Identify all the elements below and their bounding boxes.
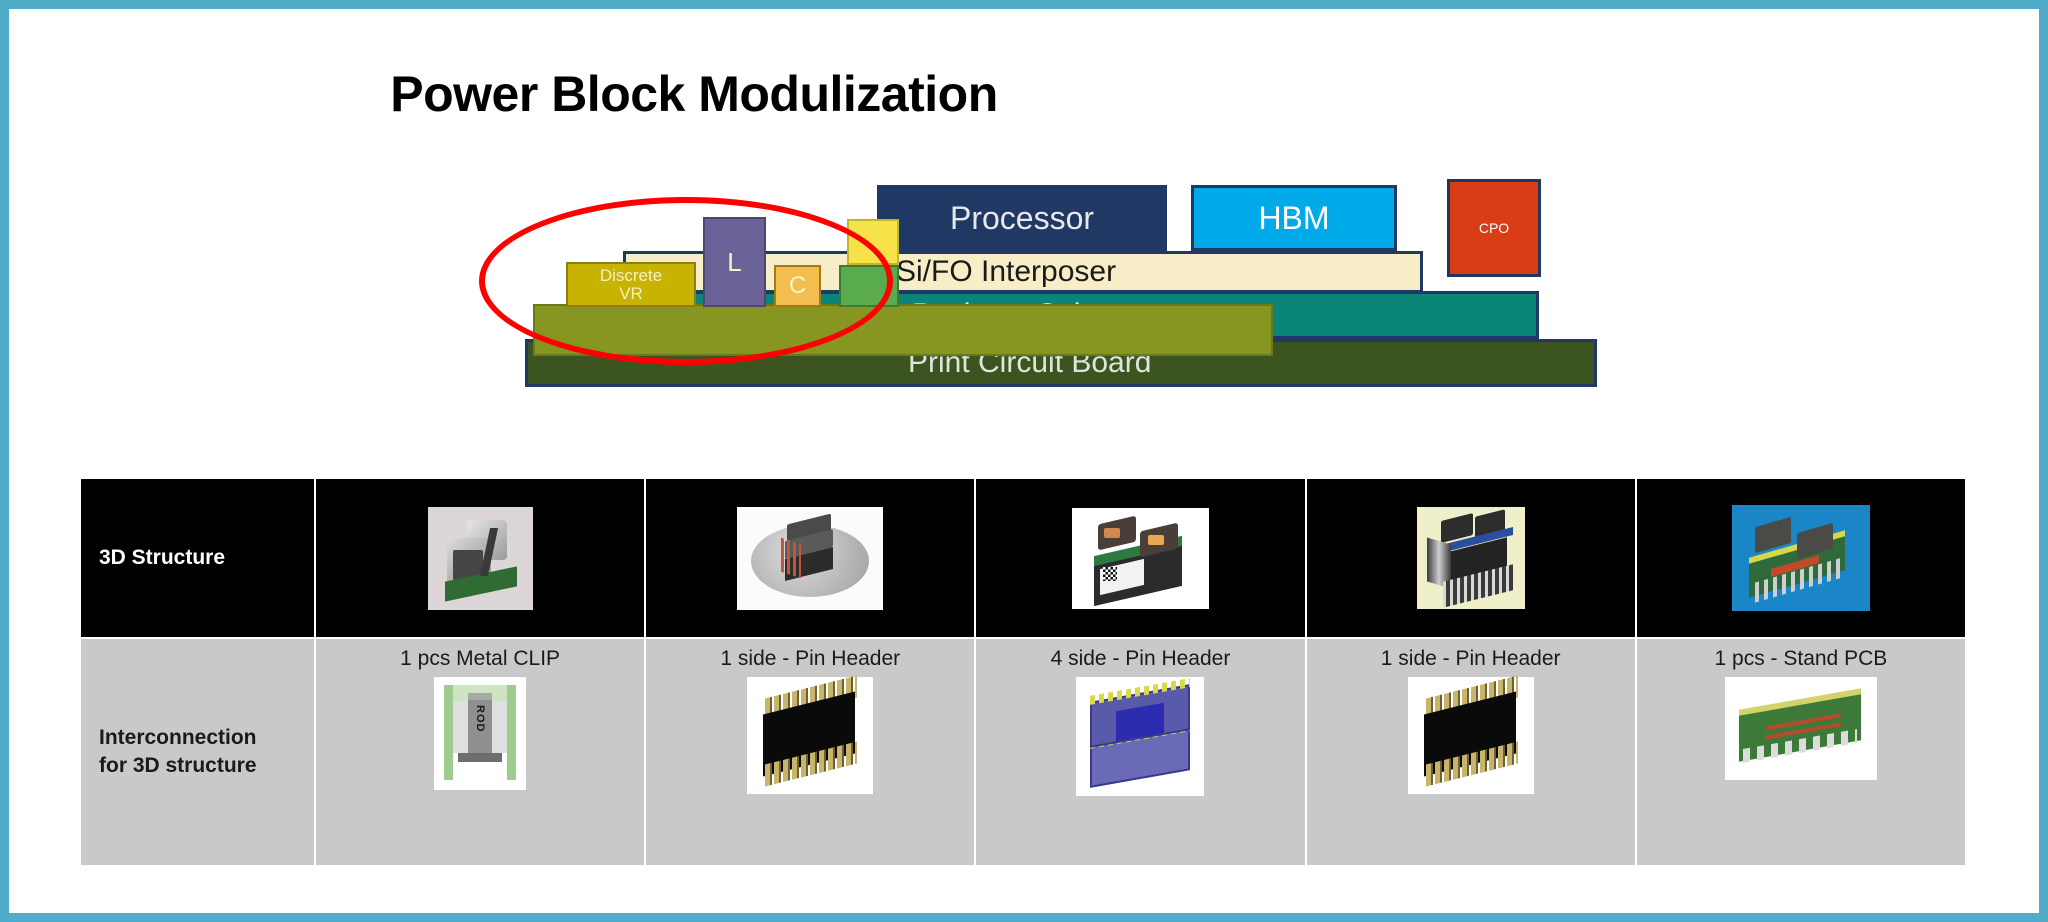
rod-label: ROD [468, 699, 492, 739]
table-row-interconnection: Interconnection for 3D structure 1 pcs M… [80, 638, 1966, 866]
row-label-interconnection-line1: Interconnection [99, 724, 314, 752]
metal-clip-module-photo [428, 507, 533, 610]
four-side-pin-header-photo [1076, 677, 1204, 796]
block-processor: Processor [877, 185, 1167, 251]
cell-3d-structure-5 [1636, 478, 1966, 638]
block-hbm: HBM [1191, 185, 1397, 251]
cell-interconnection-5: 1 pcs - Stand PCB [1636, 638, 1966, 866]
block-hbm-label: HBM [1258, 200, 1329, 237]
coin-scale-module-photo [737, 507, 883, 610]
cell-3d-structure-2 [645, 478, 975, 638]
cell-3d-structure-3 [975, 478, 1305, 638]
slide-canvas: Power Block Modulization Print Circuit B… [0, 0, 2048, 922]
pin-header-module-photo [1417, 507, 1525, 609]
layer-interposer-label: Si/FO Interposer [896, 255, 1116, 289]
caption-interconnection-1: 1 pcs Metal CLIP [400, 639, 560, 677]
cell-interconnection-1: 1 pcs Metal CLIP ROD [315, 638, 645, 866]
cell-3d-structure-1 [315, 478, 645, 638]
caption-interconnection-4: 1 side - Pin Header [1381, 639, 1561, 677]
caption-interconnection-5: 1 pcs - Stand PCB [1715, 639, 1888, 677]
single-side-pin-header-photo-2 [1408, 677, 1534, 794]
row-label-3d-structure: 3D Structure [80, 478, 315, 638]
block-processor-label: Processor [950, 200, 1094, 237]
single-side-pin-header-photo [747, 677, 873, 794]
caption-interconnection-3: 4 side - Pin Header [1051, 639, 1231, 677]
stand-pcb-photo [1725, 677, 1877, 780]
cell-3d-structure-4 [1306, 478, 1636, 638]
metal-clip-rod-diagram: ROD [434, 677, 526, 790]
stacked-module-qr-photo [1072, 508, 1209, 609]
table-row-3d-structure: 3D Structure [80, 478, 1966, 638]
row-label-interconnection: Interconnection for 3D structure [80, 638, 315, 866]
block-cpo: CPO [1447, 179, 1541, 277]
green-pcb-module-photo [1732, 505, 1870, 611]
block-cpo-label: CPO [1479, 220, 1509, 236]
caption-interconnection-2: 1 side - Pin Header [720, 639, 900, 677]
cell-interconnection-4: 1 side - Pin Header [1306, 638, 1636, 866]
cell-interconnection-3: 4 side - Pin Header [975, 638, 1305, 866]
package-stack-diagram: Print Circuit Board Package Substrate Si… [9, 209, 2039, 409]
cell-interconnection-2: 1 side - Pin Header [645, 638, 975, 866]
power-block-highlight-ellipse [479, 197, 893, 365]
row-label-interconnection-line2: for 3D structure [99, 752, 314, 780]
page-title: Power Block Modulization [9, 65, 1379, 123]
module-comparison-table: 3D Structure [79, 477, 1967, 867]
